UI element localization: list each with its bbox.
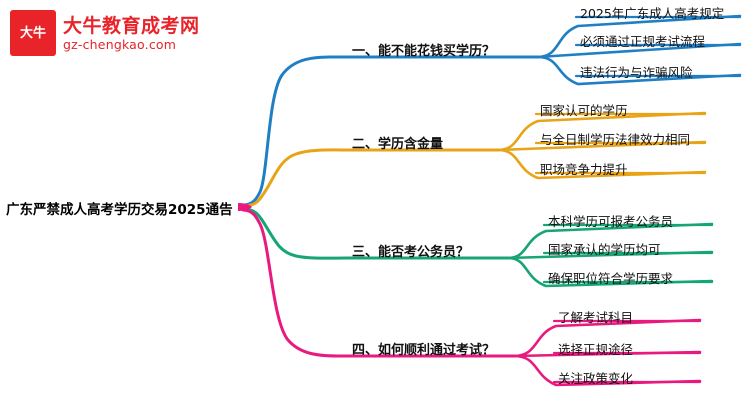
leaf-label-2-2: 与全日制学历法律效力相同 xyxy=(540,129,690,148)
leaf-label-3-3: 确保职位符合学历要求 xyxy=(548,268,673,287)
leaf-label-1-1: 2025年广东成人高考规定 xyxy=(580,3,724,22)
leaf-label-1-3: 违法行为与诈骗风险 xyxy=(580,62,693,81)
branch-label-1: 一、能不能花钱买学历？ xyxy=(352,40,495,59)
leaf-label-4-3: 关注政策变化 xyxy=(558,368,633,387)
branch-label-4: 四、如何顺利通过考试？ xyxy=(352,339,495,358)
mindmap-root-label: 广东严禁成人高考学历交易2025通告 xyxy=(6,198,233,218)
leaf-label-1-2: 必须通过正规考试流程 xyxy=(580,31,705,50)
leaf-label-4-1: 了解考试科目 xyxy=(558,307,633,326)
mindmap-canvas: 大牛 大牛教育成考网 gz-chengkao.com xyxy=(0,0,750,410)
leaf-label-4-2: 选择正规途径 xyxy=(558,339,633,358)
branch-label-3: 三、能否考公务员？ xyxy=(352,241,469,260)
leaf-label-3-2: 国家承认的学历均可 xyxy=(548,239,661,258)
leaf-label-2-3: 职场竞争力提升 xyxy=(540,159,628,178)
branch-label-2: 二、学历含金量 xyxy=(352,133,443,152)
leaf-label-3-1: 本科学历可报考公务员 xyxy=(548,211,673,230)
leaf-label-2-1: 国家认可的学历 xyxy=(540,100,628,119)
